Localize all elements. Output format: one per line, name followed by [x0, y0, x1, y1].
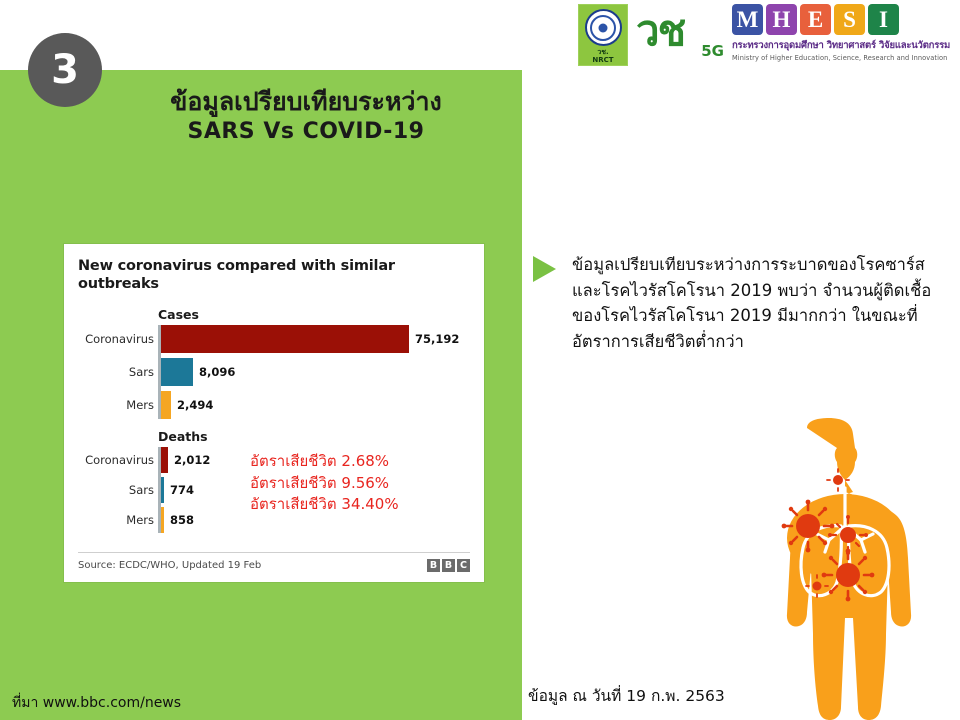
chart-group-heading-deaths: Deaths — [158, 429, 470, 444]
chart-bar-value: 2,012 — [174, 453, 210, 467]
chart-bar-row: Coronavirus 75,192 — [78, 325, 470, 353]
bbc-letter-b2: B — [442, 559, 455, 572]
bbc-letter-b1: B — [427, 559, 440, 572]
chart-bar-deaths-sars — [161, 477, 164, 503]
chart-bar-value: 858 — [170, 513, 194, 527]
body-paragraph: ข้อมูลเปรียบเทียบระหว่างการระบาดของโรคซา… — [572, 252, 952, 354]
chart-bar-value: 774 — [170, 483, 194, 497]
mhesi-letter-m: M — [732, 4, 763, 35]
chart-bar-value: 8,096 — [199, 365, 235, 379]
mhesi-english-name: Ministry of Higher Education, Science, R… — [732, 54, 947, 62]
vo-wordmark: วช — [636, 10, 684, 52]
chart-bar-label: Sars — [78, 483, 161, 497]
vo-5g-logo: วช 5G — [634, 4, 726, 62]
fatality-rate-mers: อัตราเสียชีวิต 34.40% — [250, 494, 399, 515]
chart-bar-label: Coronavirus — [78, 453, 161, 467]
mhesi-letter-s: S — [834, 4, 865, 35]
page-title: ข้อมูลเปรียบเทียบระหว่าง SARS Vs COVID-1… — [110, 86, 502, 147]
chart-source-text: Source: ECDC/WHO, Updated 19 Feb — [78, 560, 261, 571]
bbc-letter-c: C — [457, 559, 470, 572]
chart-title: New coronavirus compared with similar ou… — [78, 258, 470, 293]
mhesi-thai-name: กระทรวงการอุดมศึกษา วิทยาศาสตร์ วิจัยและ… — [732, 38, 950, 53]
fatality-rate-annotations: อัตราเสียชีวิต 2.68% อัตราเสียชีวิต 9.56… — [250, 451, 399, 515]
nrct-abbr-label: NRCT — [592, 56, 613, 64]
chart-bar-cases-mers — [161, 391, 171, 419]
bbc-logo: B B C — [427, 559, 470, 572]
source-note: ที่มา www.bbc.com/news — [12, 692, 181, 714]
nrct-logo: วช. NRCT — [578, 4, 628, 66]
slide-number-badge: 3 — [28, 33, 102, 107]
chart-bar-value: 2,494 — [177, 398, 213, 412]
fatality-rate-coronavirus: อัตราเสียชีวิต 2.68% — [250, 451, 399, 472]
chart-bar-row: Mers 2,494 — [78, 391, 470, 419]
page-title-line2: SARS Vs COVID-19 — [110, 117, 502, 147]
date-note: ข้อมูล ณ วันที่ 19 ก.พ. 2563 — [528, 683, 725, 708]
chart-bar-deaths-coronavirus — [161, 447, 168, 473]
chart-bar-label: Sars — [78, 365, 161, 379]
chart-bar-label: Coronavirus — [78, 332, 161, 346]
chart-group-cases: Coronavirus 75,192 Sars 8,096 Mers 2,494 — [78, 325, 470, 419]
chart-bar-deaths-mers — [161, 507, 164, 533]
chart-bar-label: Mers — [78, 513, 161, 527]
infected-human-lungs-illustration — [745, 418, 945, 720]
chart-bar-row: Sars 8,096 — [78, 358, 470, 386]
bullet-arrow-icon — [533, 256, 556, 282]
bbc-chart-card: New coronavirus compared with similar ou… — [64, 244, 484, 582]
chart-bar-label: Mers — [78, 398, 161, 412]
fatality-rate-sars: อัตราเสียชีวิต 9.56% — [250, 473, 399, 494]
chart-body: Cases Coronavirus 75,192 Sars 8,096 Mers — [78, 307, 470, 533]
mhesi-letter-h: H — [766, 4, 797, 35]
chart-bar-cases-coronavirus — [161, 325, 409, 353]
nrct-thai-label: วช. — [592, 48, 613, 56]
chart-group-heading-cases: Cases — [158, 307, 470, 322]
chart-footer: Source: ECDC/WHO, Updated 19 Feb B B C — [78, 552, 470, 572]
chart-bar-value: 75,192 — [415, 332, 459, 346]
mhesi-letter-i: I — [868, 4, 899, 35]
mhesi-letter-tiles: M H E S I — [732, 4, 899, 35]
header-logo-bar: วช. NRCT วช 5G M H E S I กระทรวงการอุดมศ… — [578, 4, 950, 70]
mhesi-letter-e: E — [800, 4, 831, 35]
chart-bar-cases-sars — [161, 358, 193, 386]
nrct-seal-icon — [585, 9, 622, 46]
page-title-line1: ข้อมูลเปรียบเทียบระหว่าง — [110, 86, 502, 117]
mhesi-logo: M H E S I กระทรวงการอุดมศึกษา วิทยาศาสตร… — [732, 4, 950, 62]
vo-5g-label: 5G — [701, 42, 724, 60]
chart-group-deaths: Coronavirus 2,012 Sars 774 Mers 858 — [78, 447, 470, 533]
